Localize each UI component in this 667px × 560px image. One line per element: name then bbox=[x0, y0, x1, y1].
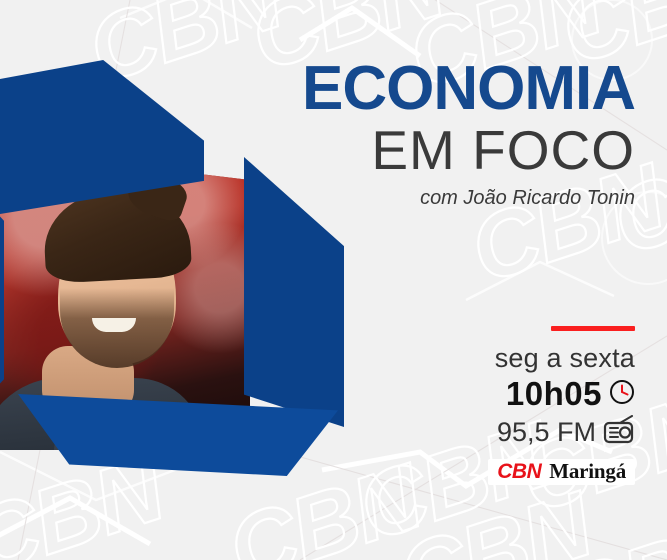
schedule-frequency-row: 95,5 FM bbox=[435, 415, 635, 450]
radio-icon bbox=[603, 415, 635, 450]
clock-icon bbox=[609, 379, 635, 410]
blue-shape-left-edge bbox=[0, 210, 4, 390]
background-watermark: CBN bbox=[389, 478, 601, 560]
headline-block: ECONOMIA EM FOCO com João Ricardo Tonin bbox=[302, 58, 635, 210]
logo-brand-cbn: CBN bbox=[497, 461, 541, 482]
title-line-em-foco: EM FOCO bbox=[302, 122, 635, 180]
schedule-frequency: 95,5 FM bbox=[497, 417, 596, 448]
promo-graphic: CBNCBNCBNCBNCBNCBNCBNCBNCBNCBNCBNCBN ECO… bbox=[0, 0, 667, 560]
logo-city-maringa: Maringá bbox=[549, 461, 626, 482]
host-credit-line: com João Ricardo Tonin bbox=[302, 186, 635, 210]
schedule-days: seg a sexta bbox=[435, 343, 635, 374]
cbn-maringa-logo: CBN Maringá bbox=[488, 459, 635, 485]
schedule-block: seg a sexta 10h05 95,5 FM bbox=[435, 326, 635, 485]
red-accent-bar bbox=[551, 326, 635, 331]
schedule-time: 10h05 bbox=[506, 376, 602, 412]
background-watermark: CBN bbox=[551, 502, 667, 560]
host-photo-composition bbox=[0, 60, 354, 470]
title-line-economia: ECONOMIA bbox=[302, 58, 635, 120]
schedule-time-row: 10h05 bbox=[435, 376, 635, 412]
